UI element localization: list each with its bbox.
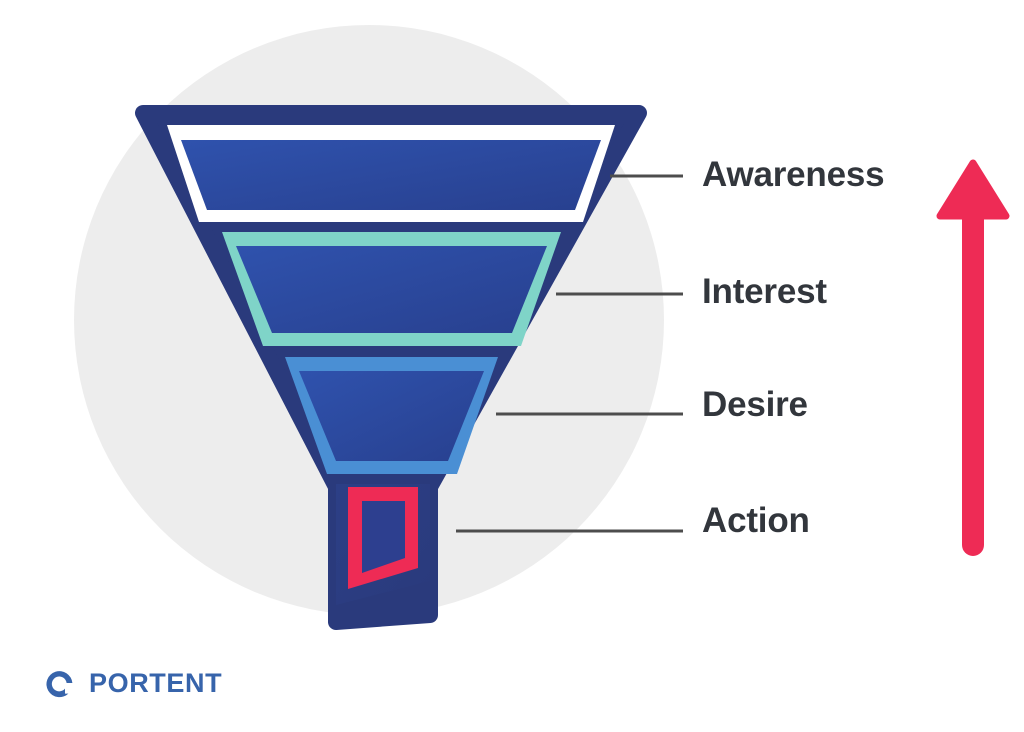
funnel-stage-awareness[interactable] xyxy=(167,125,615,222)
stage-label-awareness: Awareness xyxy=(702,157,884,192)
funnel-stage-interest[interactable] xyxy=(222,232,561,346)
stage-label-action: Action xyxy=(702,503,810,538)
funnel-figure xyxy=(0,0,1024,732)
arrow-shaft xyxy=(962,210,984,556)
stage-label-desire: Desire xyxy=(702,387,808,422)
interest-fill xyxy=(236,246,547,333)
arrow-head xyxy=(940,163,1006,216)
awareness-fill xyxy=(181,140,601,210)
portent-ring-icon xyxy=(44,666,78,700)
stage-label-interest: Interest xyxy=(702,274,827,309)
brand-wordmark: PORTENT xyxy=(89,670,222,697)
funnel-diagram-page: Awareness Interest Desire Action PORTENT xyxy=(0,0,1024,732)
upward-arrow xyxy=(940,163,1006,556)
brand-logo: PORTENT xyxy=(44,666,222,700)
